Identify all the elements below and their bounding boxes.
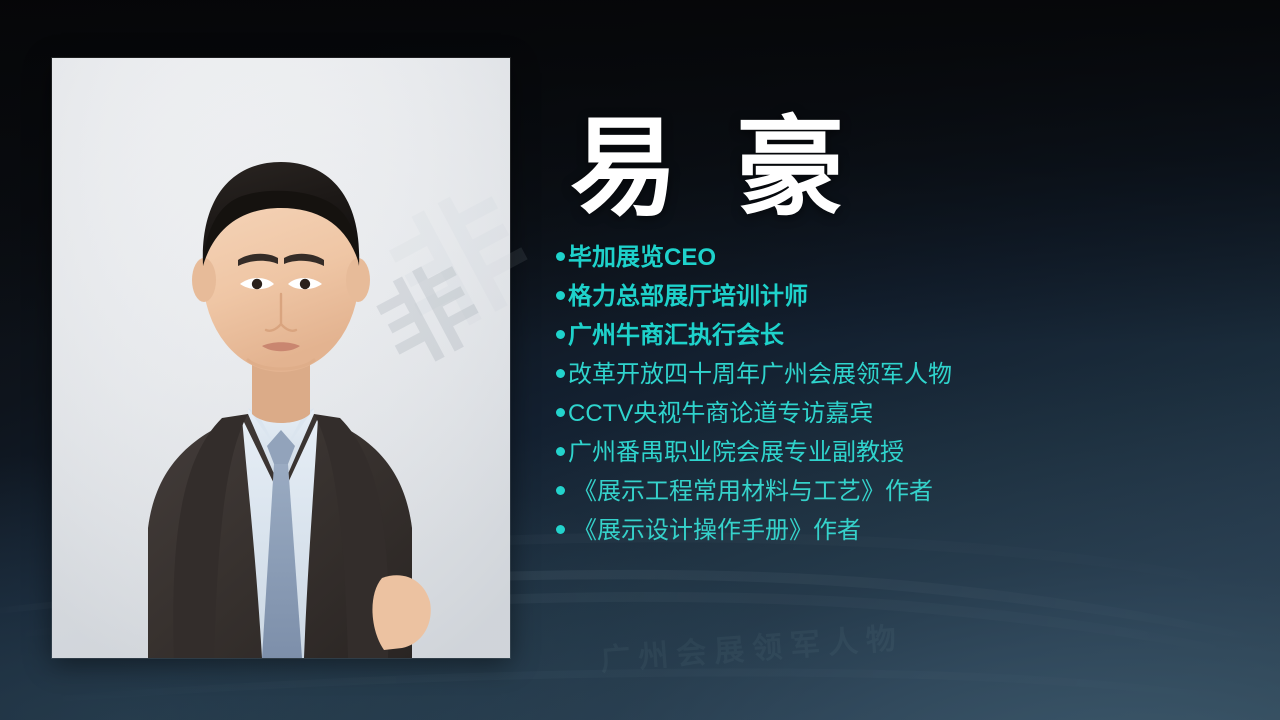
credential-label: 格力总部展厅培训计师 xyxy=(568,285,808,309)
slide: 广州会展领军人物 xyxy=(0,0,1280,720)
credential-item: 《展示工程常用材料与工艺》作者 xyxy=(556,480,1256,519)
credential-label: 《展示设计操作手册》作者 xyxy=(573,519,861,543)
credential-item: CCTV央视牛商论道专访嘉宾 xyxy=(556,402,1256,441)
bullet-dot-icon xyxy=(556,408,565,417)
bullet-dot-icon xyxy=(556,369,565,378)
credential-label: 改革开放四十周年广州会展领军人物 xyxy=(568,363,952,387)
credential-item: 广州牛商汇执行会长 xyxy=(556,324,1256,363)
credential-label: CCTV央视牛商论道专访嘉宾 xyxy=(568,402,873,426)
portrait-photo: 非 xyxy=(52,58,510,658)
bullet-dot-icon xyxy=(556,447,565,456)
credential-label: 广州番禺职业院会展专业副教授 xyxy=(568,441,904,465)
title-block: 非 易 豪 xyxy=(556,104,1256,240)
credentials-list: 毕加展览CEO格力总部展厅培训计师广州牛商汇执行会长改革开放四十周年广州会展领军… xyxy=(556,246,1256,558)
bullet-dot-icon xyxy=(556,291,565,300)
credential-item: 广州番禺职业院会展专业副教授 xyxy=(556,441,1256,480)
credential-label: 广州牛商汇执行会长 xyxy=(568,324,784,348)
bullet-dot-icon xyxy=(556,525,565,534)
credential-item: 改革开放四十周年广州会展领军人物 xyxy=(556,363,1256,402)
credential-label: 《展示工程常用材料与工艺》作者 xyxy=(573,480,933,504)
bullet-dot-icon xyxy=(556,252,565,261)
credential-label: 毕加展览CEO xyxy=(568,246,716,270)
credential-item: 毕加展览CEO xyxy=(556,246,1256,285)
bullet-dot-icon xyxy=(556,330,565,339)
portrait-illustration xyxy=(52,58,510,658)
content-column: 非 易 豪 毕加展览CEO格力总部展厅培训计师广州牛商汇执行会长改革开放四十周年… xyxy=(556,104,1256,558)
page-title: 易 豪 xyxy=(570,104,858,231)
bullet-dot-icon xyxy=(556,486,565,495)
credential-item: 格力总部展厅培训计师 xyxy=(556,285,1256,324)
credential-item: 《展示设计操作手册》作者 xyxy=(556,519,1256,558)
